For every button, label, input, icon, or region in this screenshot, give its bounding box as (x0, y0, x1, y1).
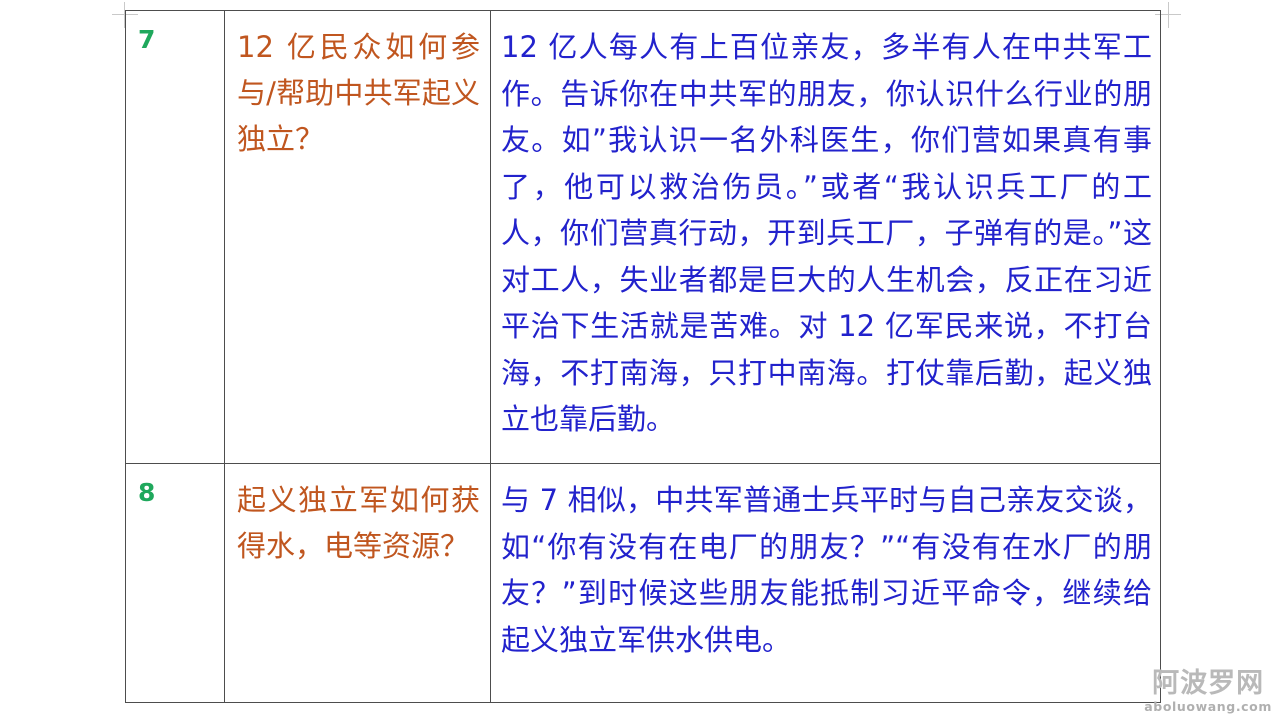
question-cell: 起义独立军如何获得水，电等资源？ (225, 464, 491, 703)
row-number-cell: 8 (126, 464, 225, 703)
answer-text: 与 7 相似，中共军普通士兵平时与自己亲友交谈，如“你有没有在电厂的朋友？”“有… (491, 464, 1160, 677)
row-number: 8 (126, 464, 224, 702)
watermark: 阿波罗网 aboluowang.com (1144, 669, 1272, 714)
table-row: 7 12 亿民众如何参与/帮助中共军起义独立？ 12 亿人每人有上百位亲友，多半… (126, 11, 1161, 464)
answer-text: 12 亿人每人有上百位亲友，多半有人在中共军工作。告诉你在中共军的朋友，你认识什… (491, 11, 1160, 457)
question-text: 起义独立军如何获得水，电等资源？ (225, 464, 490, 581)
qa-table: 7 12 亿民众如何参与/帮助中共军起义独立？ 12 亿人每人有上百位亲友，多半… (125, 10, 1161, 703)
question-text: 12 亿民众如何参与/帮助中共军起义独立？ (225, 11, 490, 174)
row-number-cell: 7 (126, 11, 225, 464)
answer-cell: 12 亿人每人有上百位亲友，多半有人在中共军工作。告诉你在中共军的朋友，你认识什… (491, 11, 1161, 464)
question-cell: 12 亿民众如何参与/帮助中共军起义独立？ (225, 11, 491, 464)
answer-cell: 与 7 相似，中共军普通士兵平时与自己亲友交谈，如“你有没有在电厂的朋友？”“有… (491, 464, 1161, 703)
table-row: 8 起义独立军如何获得水，电等资源？ 与 7 相似，中共军普通士兵平时与自己亲友… (126, 464, 1161, 703)
row-number: 7 (126, 11, 224, 463)
watermark-chinese: 阿波罗网 (1144, 669, 1272, 699)
watermark-latin: aboluowang.com (1144, 699, 1272, 714)
